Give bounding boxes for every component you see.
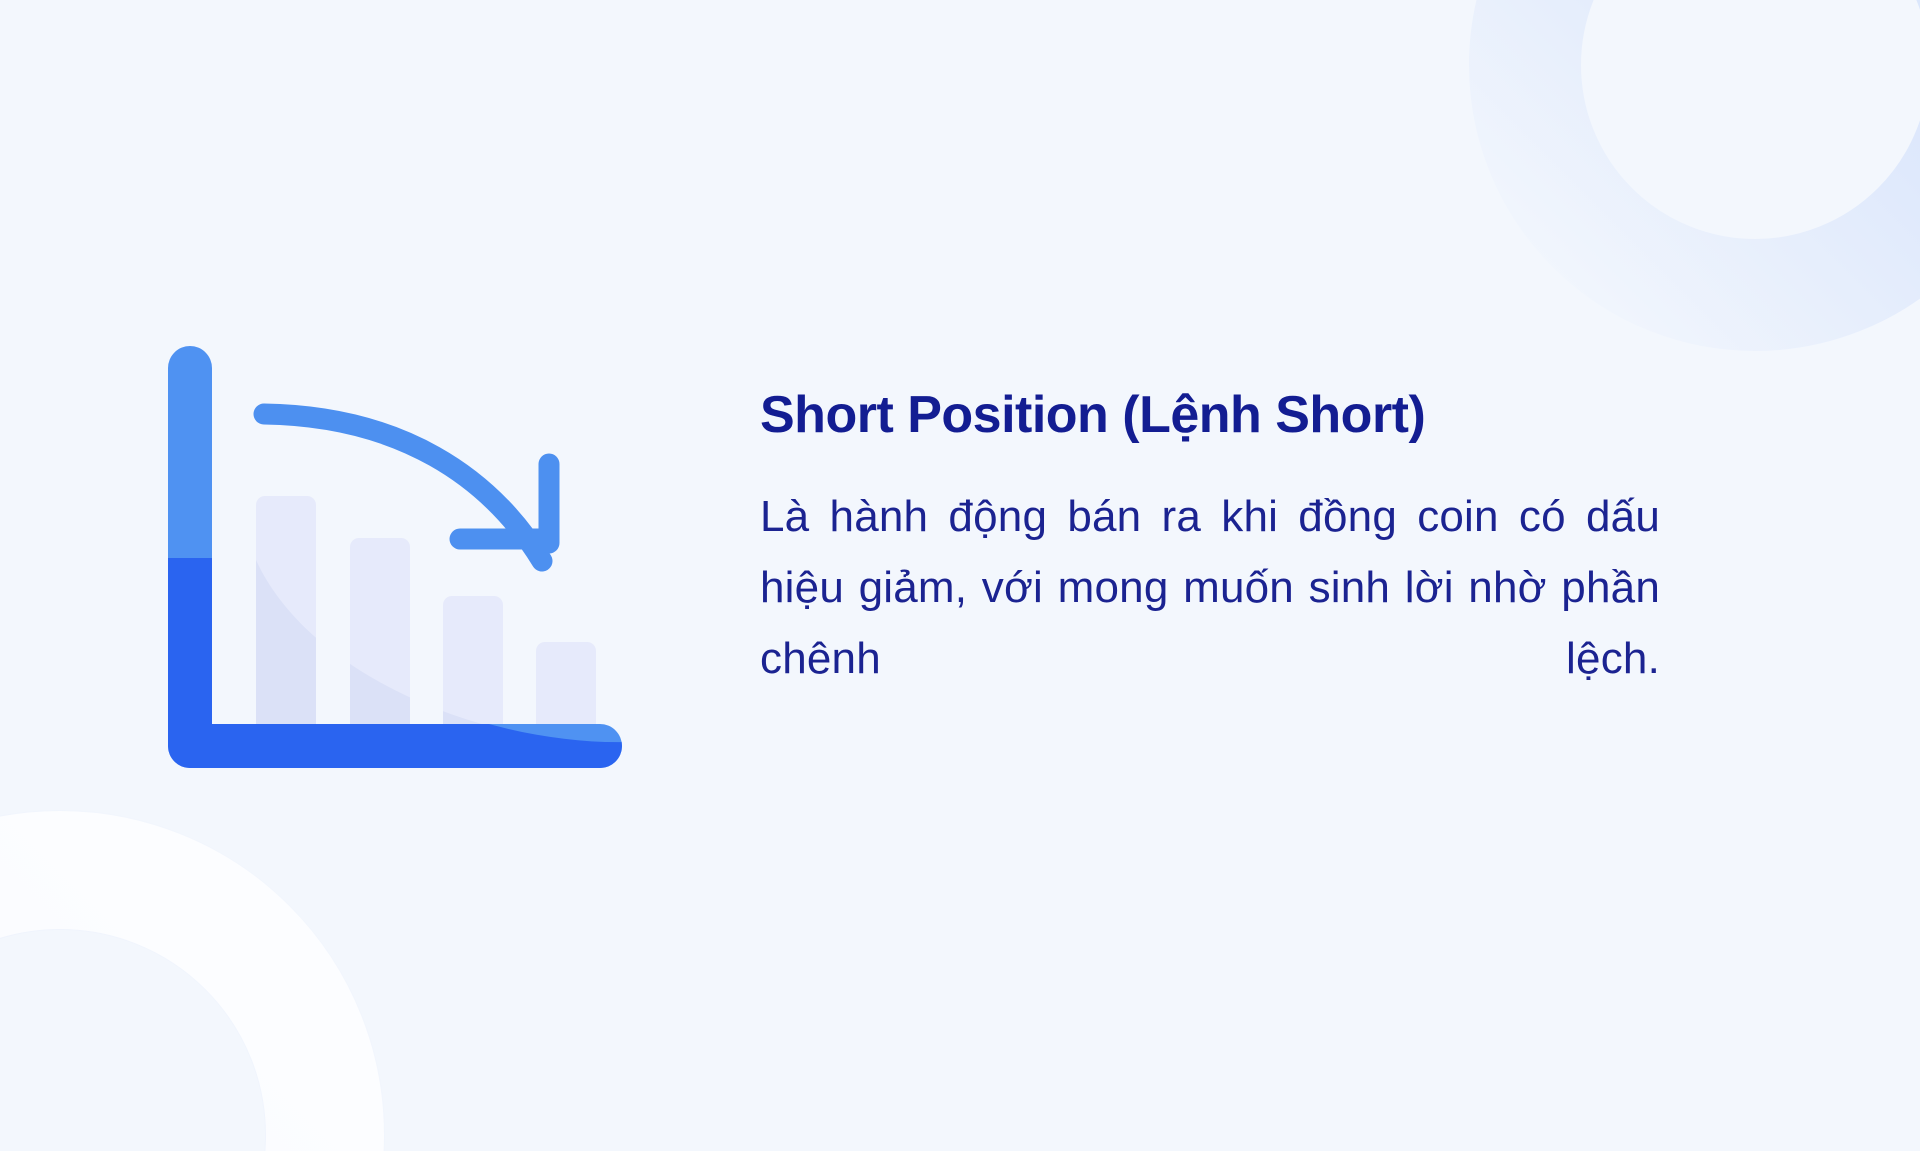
- page-title: Short Position (Lệnh Short): [760, 385, 1700, 446]
- description-paragraph: Là hành động bán ra khi đồng coin có dấu…: [760, 481, 1660, 766]
- declining-bar-chart-icon: [160, 346, 630, 816]
- slide-stage: Short Position (Lệnh Short) Là hành động…: [0, 0, 1920, 1151]
- declining-chart-icon: [160, 346, 630, 816]
- text-column: Short Position (Lệnh Short) Là hành động…: [760, 385, 1760, 765]
- illustration-column: [0, 336, 760, 816]
